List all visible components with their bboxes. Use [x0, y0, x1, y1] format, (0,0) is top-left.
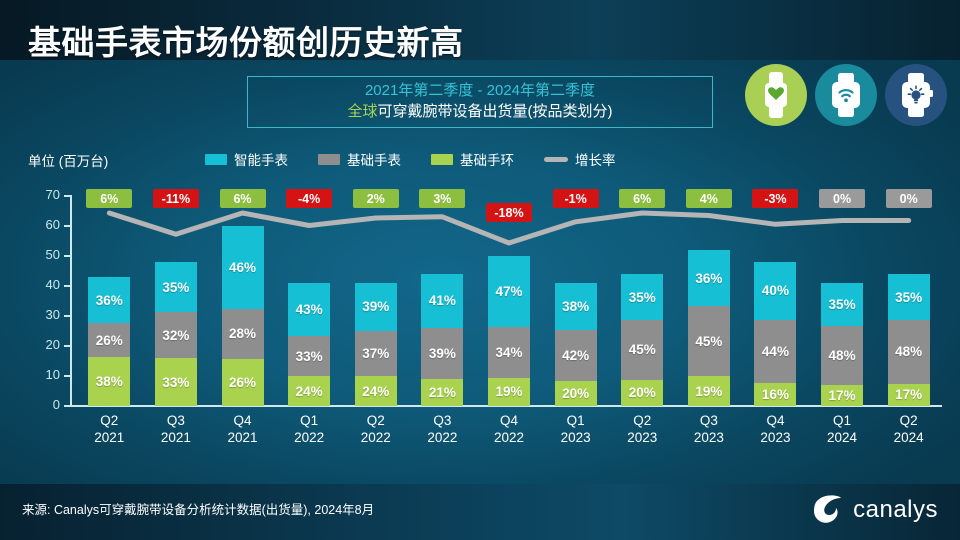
bar-segment-label: 35%: [162, 280, 189, 295]
bar-segment[interactable]: 17%: [821, 385, 863, 406]
y-tick-mark: [64, 375, 71, 377]
bar-segment[interactable]: 19%: [688, 376, 730, 406]
bar-segment-label: 36%: [695, 271, 722, 286]
stacked-bar[interactable]: 35%45%20%: [621, 274, 663, 406]
bar-segment[interactable]: 42%: [555, 330, 597, 382]
bar-segment-label: 17%: [829, 388, 856, 403]
x-label-year: 2023: [543, 429, 609, 446]
smart-watch-bulb-icon: [885, 64, 947, 126]
bar-segment-label: 42%: [562, 348, 589, 363]
page-title: 基础手表市场份额创历史新高: [28, 16, 464, 64]
y-tick-mark: [64, 195, 71, 197]
y-tick-label: 30: [34, 307, 60, 322]
bar-segment[interactable]: 38%: [88, 357, 130, 406]
bar-group[interactable]: 41%39%21%3%: [409, 185, 476, 406]
x-label-year: 2022: [343, 429, 409, 446]
bar-segment-label: 16%: [762, 387, 789, 402]
bar-segment[interactable]: 26%: [88, 323, 130, 357]
x-axis-tick-label: Q32023: [676, 412, 742, 446]
bar-segment[interactable]: 35%: [821, 283, 863, 326]
x-label-quarter: Q1: [809, 412, 875, 429]
bar-segment-label: 33%: [296, 349, 323, 364]
growth-rate-label: 0%: [900, 192, 918, 206]
y-tick-mark: [64, 225, 71, 227]
y-tick-mark: [64, 255, 71, 257]
legend-item-1: 基础手表: [318, 149, 401, 169]
bar-segment[interactable]: 36%: [88, 277, 130, 323]
bar-segment[interactable]: 32%: [155, 312, 197, 358]
legend-label-1: 基础手表: [347, 149, 401, 169]
bar-segment[interactable]: 39%: [355, 283, 397, 331]
x-label-year: 2023: [742, 429, 808, 446]
x-axis-tick-label: Q12024: [809, 412, 875, 446]
growth-rate-badge: -4%: [286, 189, 332, 208]
bar-segment-label: 32%: [162, 328, 189, 343]
legend-item-2: 基础手环: [431, 149, 514, 169]
y-axis-labels: 010203040506070: [30, 185, 60, 395]
bar-segment-label: 38%: [96, 374, 123, 389]
bar-segment[interactable]: 33%: [155, 358, 197, 406]
growth-rate-label: 4%: [700, 192, 718, 206]
growth-rate-badge: 6%: [619, 189, 665, 208]
growth-rate-label: -11%: [162, 192, 191, 206]
bar-segment[interactable]: 28%: [222, 309, 264, 359]
growth-rate-label: -3%: [764, 192, 786, 206]
bar-segment[interactable]: 45%: [621, 320, 663, 379]
y-tick-mark: [64, 285, 71, 287]
bar-group[interactable]: 36%45%19%4%: [676, 185, 743, 406]
slide-canvas: 基础手表市场份额创历史新高 2021年第二季度 - 2024年第二季度 全球可穿…: [0, 0, 960, 540]
bar-segment[interactable]: 40%: [754, 262, 796, 320]
x-label-quarter: Q4: [210, 412, 276, 429]
bar-segment-label: 26%: [229, 375, 256, 390]
bar-segment-label: 47%: [495, 284, 522, 299]
bar-segment-label: 24%: [362, 384, 389, 399]
fitness-band-heart-icon: [745, 64, 807, 126]
growth-rate-badge: -3%: [752, 189, 798, 208]
bar-group[interactable]: 47%34%19%-18%: [476, 185, 543, 406]
legend-swatch-0: [205, 154, 227, 165]
stacked-bar[interactable]: 39%37%24%: [355, 283, 397, 406]
subtitle-period: 2021年第二季度 - 2024年第二季度: [248, 81, 712, 101]
bar-segment[interactable]: 48%: [888, 320, 930, 383]
x-axis-tick-label: Q22021: [76, 412, 142, 446]
canalys-logo: canalys: [813, 495, 938, 525]
x-label-year: 2024: [876, 429, 942, 446]
legend-label-3: 增长率: [575, 149, 616, 169]
bar-segment-label: 17%: [895, 387, 922, 402]
y-tick-label: 0: [34, 397, 60, 412]
growth-rate-badge: 0%: [819, 189, 865, 208]
x-label-year: 2023: [676, 429, 742, 446]
bar-group[interactable]: 40%44%16%-3%: [742, 185, 809, 406]
bar-segment[interactable]: 45%: [688, 306, 730, 376]
x-label-quarter: Q1: [276, 412, 342, 429]
growth-rate-label: 0%: [833, 192, 851, 206]
x-label-quarter: Q2: [609, 412, 675, 429]
bar-segment[interactable]: 17%: [888, 384, 930, 406]
subtitle-highlight: 全球: [347, 103, 377, 120]
subtitle-box: 2021年第二季度 - 2024年第二季度 全球可穿戴腕带设备出货量(按品类划分…: [247, 76, 713, 128]
subtitle-rest: 可穿戴腕带设备出货量(按品类划分): [378, 103, 613, 120]
bar-segment-label: 44%: [762, 344, 789, 359]
bar-segment[interactable]: 24%: [355, 376, 397, 406]
basic-watch-wifi-icon: [815, 64, 877, 126]
bar-segment-label: 19%: [495, 384, 522, 399]
growth-rate-label: 6%: [633, 192, 651, 206]
x-label-quarter: Q3: [676, 412, 742, 429]
bar-group[interactable]: 35%45%20%6%: [609, 185, 676, 406]
bar-group[interactable]: 35%48%17%0%: [875, 185, 942, 406]
bar-segment-label: 46%: [229, 260, 256, 275]
y-tick-label: 50: [34, 247, 60, 262]
legend-swatch-2: [431, 154, 453, 165]
x-axis-tick-label: Q32021: [143, 412, 209, 446]
x-axis-tick-label: Q12022: [276, 412, 342, 446]
growth-rate-badge: -1%: [553, 189, 599, 208]
bar-segment[interactable]: 24%: [288, 376, 330, 406]
bar-segment-label: 38%: [562, 299, 589, 314]
unit-label: 单位 (百万台): [28, 150, 108, 170]
x-label-year: 2021: [143, 429, 209, 446]
bar-segment[interactable]: 36%: [688, 250, 730, 306]
canalys-mark-icon: [813, 495, 845, 525]
growth-rate-label: -4%: [298, 192, 320, 206]
stacked-bar[interactable]: 35%32%33%: [155, 262, 197, 406]
bar-segment[interactable]: 39%: [421, 328, 463, 379]
growth-rate-badge: 6%: [220, 189, 266, 208]
legend-item-0: 智能手表: [205, 149, 288, 169]
x-label-quarter: Q2: [876, 412, 942, 429]
source-note: 来源: Canalys可穿戴腕带设备分析统计数据(出货量), 2024年8月: [22, 499, 374, 518]
growth-rate-badge: 6%: [86, 189, 132, 208]
bar-segment[interactable]: 37%: [355, 331, 397, 377]
stacked-bar[interactable]: 47%34%19%: [488, 256, 530, 406]
stacked-bar[interactable]: 35%48%17%: [888, 274, 930, 406]
bar-segment[interactable]: 20%: [555, 381, 597, 406]
x-label-quarter: Q4: [742, 412, 808, 429]
canalys-logo-text: canalys: [853, 496, 938, 524]
bar-segment[interactable]: 44%: [754, 320, 796, 383]
stacked-bar[interactable]: 40%44%16%: [754, 262, 796, 406]
bar-segment-label: 39%: [362, 299, 389, 314]
bar-segment-label: 21%: [429, 385, 456, 400]
x-label-quarter: Q2: [343, 412, 409, 429]
bar-segment-label: 45%: [695, 334, 722, 349]
bar-segment-label: 28%: [229, 326, 256, 341]
bar-segment[interactable]: 33%: [288, 336, 330, 377]
x-label-year: 2024: [809, 429, 875, 446]
stacked-bar[interactable]: 35%48%17%: [821, 283, 863, 406]
x-axis-tick-label: Q22024: [876, 412, 942, 446]
legend-label-0: 智能手表: [234, 149, 288, 169]
bar-group[interactable]: 35%48%17%0%: [809, 185, 876, 406]
bar-segment-label: 24%: [296, 384, 323, 399]
bar-group[interactable]: 38%42%20%-1%: [542, 185, 609, 406]
x-label-year: 2021: [210, 429, 276, 446]
x-axis-tick-label: Q42021: [210, 412, 276, 446]
x-axis-tick-label: Q32022: [409, 412, 475, 446]
bar-segment[interactable]: 38%: [555, 283, 597, 330]
bar-segment[interactable]: 34%: [488, 327, 530, 378]
bar-segment-label: 35%: [829, 297, 856, 312]
x-label-quarter: Q3: [409, 412, 475, 429]
growth-rate-badge: -18%: [486, 203, 532, 222]
bar-group[interactable]: 46%28%26%6%: [209, 185, 276, 406]
growth-rate-label: 3%: [433, 192, 451, 206]
bar-segment[interactable]: 35%: [155, 262, 197, 312]
growth-rate-badge: -11%: [153, 189, 199, 208]
x-label-year: 2022: [476, 429, 542, 446]
x-axis-tick-label: Q22023: [609, 412, 675, 446]
growth-rate-label: -1%: [564, 192, 586, 206]
legend-label-2: 基础手环: [460, 149, 514, 169]
bar-segment-label: 37%: [362, 346, 389, 361]
bar-segment[interactable]: 26%: [222, 359, 264, 406]
bar-group[interactable]: 35%32%33%-11%: [143, 185, 210, 406]
bar-segment-label: 34%: [495, 345, 522, 360]
bar-series-container: 36%26%38%6%35%32%33%-11%46%28%26%6%43%33…: [76, 185, 942, 406]
bar-segment-label: 41%: [429, 293, 456, 308]
bar-segment-label: 19%: [695, 384, 722, 399]
bar-segment[interactable]: 43%: [288, 283, 330, 336]
x-label-year: 2021: [76, 429, 142, 446]
bar-segment-label: 33%: [162, 375, 189, 390]
x-label-quarter: Q1: [543, 412, 609, 429]
bar-segment[interactable]: 46%: [222, 226, 264, 309]
bar-segment-label: 35%: [629, 290, 656, 305]
bar-segment[interactable]: 47%: [488, 256, 530, 327]
y-tick-label: 10: [34, 367, 60, 382]
stacked-bar[interactable]: 36%45%19%: [688, 250, 730, 406]
y-tick-label: 20: [34, 337, 60, 352]
bar-segment-label: 36%: [96, 293, 123, 308]
bar-group[interactable]: 43%33%24%-4%: [276, 185, 343, 406]
bar-group[interactable]: 39%37%24%2%: [342, 185, 409, 406]
bar-group[interactable]: 36%26%38%6%: [76, 185, 143, 406]
bar-segment-label: 48%: [829, 348, 856, 363]
growth-rate-label: 6%: [100, 192, 118, 206]
growth-rate-badge: 3%: [419, 189, 465, 208]
bar-segment-label: 39%: [429, 346, 456, 361]
legend-swatch-3: [544, 157, 568, 162]
bar-segment-label: 48%: [895, 344, 922, 359]
chart-plot-area: 010203040506070 36%26%38%6%35%32%33%-11%…: [0, 185, 960, 410]
legend: 智能手表基础手表基础手环增长率: [205, 150, 646, 168]
legend-item-3: 增长率: [544, 149, 616, 169]
growth-rate-label: 6%: [233, 192, 251, 206]
x-axis-tick-label: Q22022: [343, 412, 409, 446]
x-label-quarter: Q3: [143, 412, 209, 429]
bar-segment[interactable]: 16%: [754, 383, 796, 406]
bar-segment[interactable]: 21%: [421, 379, 463, 406]
legend-swatch-1: [318, 154, 340, 165]
subtitle-description: 全球可穿戴腕带设备出货量(按品类划分): [248, 101, 712, 122]
bar-segment[interactable]: 19%: [488, 378, 530, 407]
x-label-year: 2022: [409, 429, 475, 446]
y-tick-mark: [64, 315, 71, 317]
bar-segment-label: 35%: [895, 290, 922, 305]
x-axis-labels: Q22021Q32021Q42021Q12022Q22022Q32022Q420…: [76, 412, 942, 458]
bar-segment-label: 20%: [629, 385, 656, 400]
bar-segment[interactable]: 20%: [621, 380, 663, 406]
bar-segment[interactable]: 35%: [621, 274, 663, 320]
bar-segment-label: 45%: [629, 342, 656, 357]
bar-segment[interactable]: 48%: [821, 326, 863, 385]
bar-segment-label: 26%: [96, 333, 123, 348]
growth-rate-badge: 2%: [353, 189, 399, 208]
bar-segment-label: 40%: [762, 283, 789, 298]
y-tick-label: 60: [34, 217, 60, 232]
x-axis-tick-label: Q42023: [742, 412, 808, 446]
bar-segment[interactable]: 41%: [421, 274, 463, 328]
bar-segment-label: 43%: [296, 302, 323, 317]
growth-rate-label: 2%: [367, 192, 385, 206]
x-label-year: 2022: [276, 429, 342, 446]
x-label-year: 2023: [609, 429, 675, 446]
stacked-bar[interactable]: 36%26%38%: [88, 277, 130, 406]
y-tick-mark: [64, 345, 71, 347]
y-tick-mark: [64, 405, 71, 407]
stacked-bar[interactable]: 38%42%20%: [555, 283, 597, 406]
bar-segment-label: 20%: [562, 386, 589, 401]
x-label-quarter: Q2: [76, 412, 142, 429]
growth-rate-badge: 0%: [886, 189, 932, 208]
bar-segment[interactable]: 35%: [888, 274, 930, 320]
growth-rate-badge: 4%: [686, 189, 732, 208]
stacked-bar[interactable]: 41%39%21%: [421, 274, 463, 406]
y-tick-label: 70: [34, 187, 60, 202]
stacked-bar[interactable]: 43%33%24%: [288, 283, 330, 406]
stacked-bar[interactable]: 46%28%26%: [222, 226, 264, 406]
y-tick-label: 40: [34, 277, 60, 292]
growth-rate-label: -18%: [494, 206, 523, 220]
x-axis-tick-label: Q42022: [476, 412, 542, 446]
x-axis-tick-label: Q12023: [543, 412, 609, 446]
x-label-quarter: Q4: [476, 412, 542, 429]
